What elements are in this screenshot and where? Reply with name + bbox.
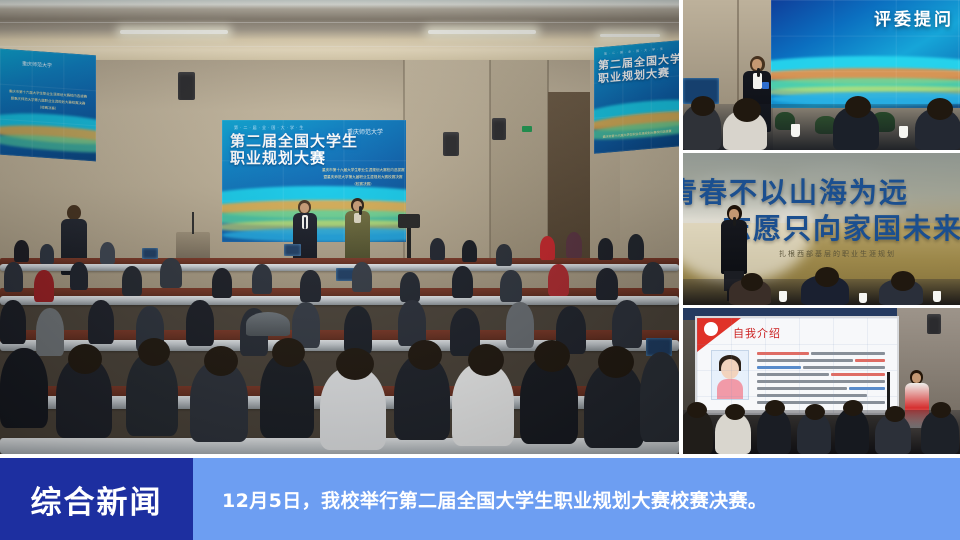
ceiling-light-left: [120, 30, 228, 34]
ceiling-light-far: [600, 34, 660, 37]
photo-judges: 评委提问: [683, 0, 960, 150]
intro-wall-speaker: [927, 314, 941, 334]
wall-speaker-right: [492, 118, 506, 140]
presentation-slide: 自我介绍: [697, 318, 897, 413]
mic-stand: [192, 212, 194, 234]
banner-subtitle: 扎根西部基层的职业生涯规划: [779, 249, 896, 259]
led-main-title-2: 职业规划大赛: [230, 151, 326, 168]
audience-cap: [246, 312, 290, 336]
led-screen-right: 第·二·届·全·国·大·学·生 第二届全国大学生 职业规划大赛 重庆市第十六届大…: [594, 40, 679, 154]
led-main-title-1: 第二届全国大学生: [230, 134, 358, 151]
desk-monitor-1: [142, 248, 158, 259]
photo-banner: 青春不以山海为远 志愿只向家国未来 扎根西部基层的职业生涯规划: [683, 153, 960, 305]
wall-speaker-left: [178, 72, 195, 100]
exit-sign: [522, 126, 532, 132]
judges-screen-title: 评委提问: [874, 5, 954, 30]
category-tag: 综合新闻: [0, 458, 193, 540]
ceiling-light-right: [428, 30, 536, 34]
caption-body: 12月5日，我校举行第二届全国大学生职业规划大赛校赛决赛。: [193, 458, 960, 540]
divider-horizontal-1: [683, 150, 960, 153]
news-collage-page: 重庆师范大学 重庆市第十六届大学生职业生涯规划大赛校内选拔赛 暨重庆师范大学第九…: [0, 0, 960, 540]
caption-text: 12月5日，我校举行第二届全国大学生职业规划大赛校赛决赛。: [193, 486, 767, 513]
wall-speaker-center: [443, 132, 459, 156]
led-main-topline: 第·二·届·全·国·大·学·生: [234, 125, 305, 131]
main-photo: 重庆师范大学 重庆市第十六届大学生职业生涯规划大赛校内选拔赛 暨重庆师范大学第九…: [0, 0, 679, 454]
divider-vertical: [679, 0, 683, 454]
divider-horizontal-2: [683, 305, 960, 308]
led-main-sub-1: 重庆市第十六届大学生职业生涯规划大赛校内选拔赛: [322, 168, 404, 173]
photo-intro: 自我介绍: [683, 308, 960, 454]
led-screen-judges: 评委提问: [771, 0, 960, 108]
banner-title-line1: 青春不以山海为远: [683, 171, 909, 211]
category-tag-label: 综合新闻: [31, 477, 163, 522]
desk-monitor-2: [284, 244, 301, 256]
camera-body: [398, 214, 420, 228]
banner-title-line2: 志愿只向家国未来: [723, 207, 960, 247]
led-screen-left: 重庆师范大学 重庆市第十六届大学生职业生涯规划大赛校内选拔赛 暨重庆师范大学第九…: [0, 49, 96, 162]
auditorium-scene: 重庆师范大学 重庆市第十六届大学生职业生涯规划大赛校内选拔赛 暨重庆师范大学第九…: [0, 0, 679, 454]
host-right: [345, 198, 371, 262]
caption-bar: 综合新闻 12月5日，我校举行第二届全国大学生职业规划大赛校赛决赛。: [0, 458, 960, 540]
led-main-logo: 重庆师范大学: [347, 127, 383, 136]
ceiling: [0, 0, 679, 64]
